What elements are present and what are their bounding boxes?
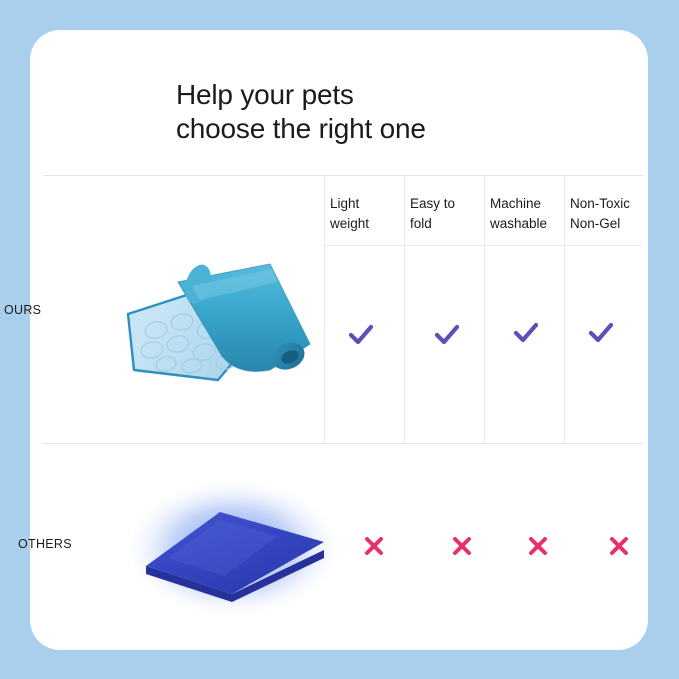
column-header-easy-to-fold: Easy to fold [410,194,484,234]
cross-icon-others-easy-to-fold [450,534,474,558]
product-image-others [128,478,338,618]
check-icon-ours-easy-to-fold [432,320,462,350]
check-icon-ours-light-weight [346,320,376,350]
cross-icon-others-non-toxic-non-gel [607,534,631,558]
column-divider-3 [484,175,485,444]
ours-row-bottom-border [44,443,643,444]
page-title: Help your pets choose the right one [176,78,596,146]
cross-icon-others-light-weight [362,534,386,558]
check-icon-ours-machine-washable [511,318,541,348]
column-divider-1 [324,175,325,444]
cross-icon-others-machine-washable [526,534,550,558]
column-header-non-toxic-non-gel: Non-Toxic Non-Gel [570,194,644,234]
column-divider-2 [404,175,405,444]
row-label-ours: OURS [4,303,41,317]
comparison-infographic: Help your pets choose the right one Ligh… [0,0,679,679]
column-header-light-weight: Light weight [330,194,404,234]
table-top-border [44,175,643,176]
column-header-machine-washable: Machine washable [490,194,564,234]
column-divider-4 [564,175,565,444]
row-label-others: OTHERS [18,537,72,551]
check-icon-ours-non-toxic-non-gel [586,318,616,348]
product-image-ours [120,252,320,402]
